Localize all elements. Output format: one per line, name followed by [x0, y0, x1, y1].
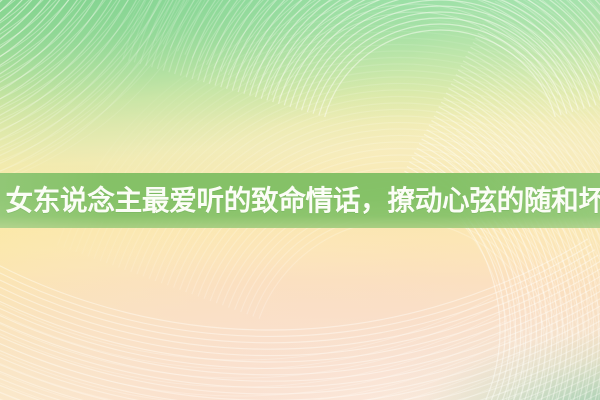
decorative-arc-lines-corner	[380, 210, 600, 400]
banner-image: 女东说念主最爱听的致命情话，撩动心弦的随和坏话	[0, 0, 600, 400]
decorative-arc-lines-top-right	[230, 0, 600, 180]
decorative-arc-lines-bottom	[0, 250, 600, 400]
banner-title-text: 女东说念主最爱听的致命情话，撩动心弦的随和坏话	[5, 187, 596, 215]
title-band: 女东说念主最爱听的致命情话，撩动心弦的随和坏话	[0, 173, 600, 228]
